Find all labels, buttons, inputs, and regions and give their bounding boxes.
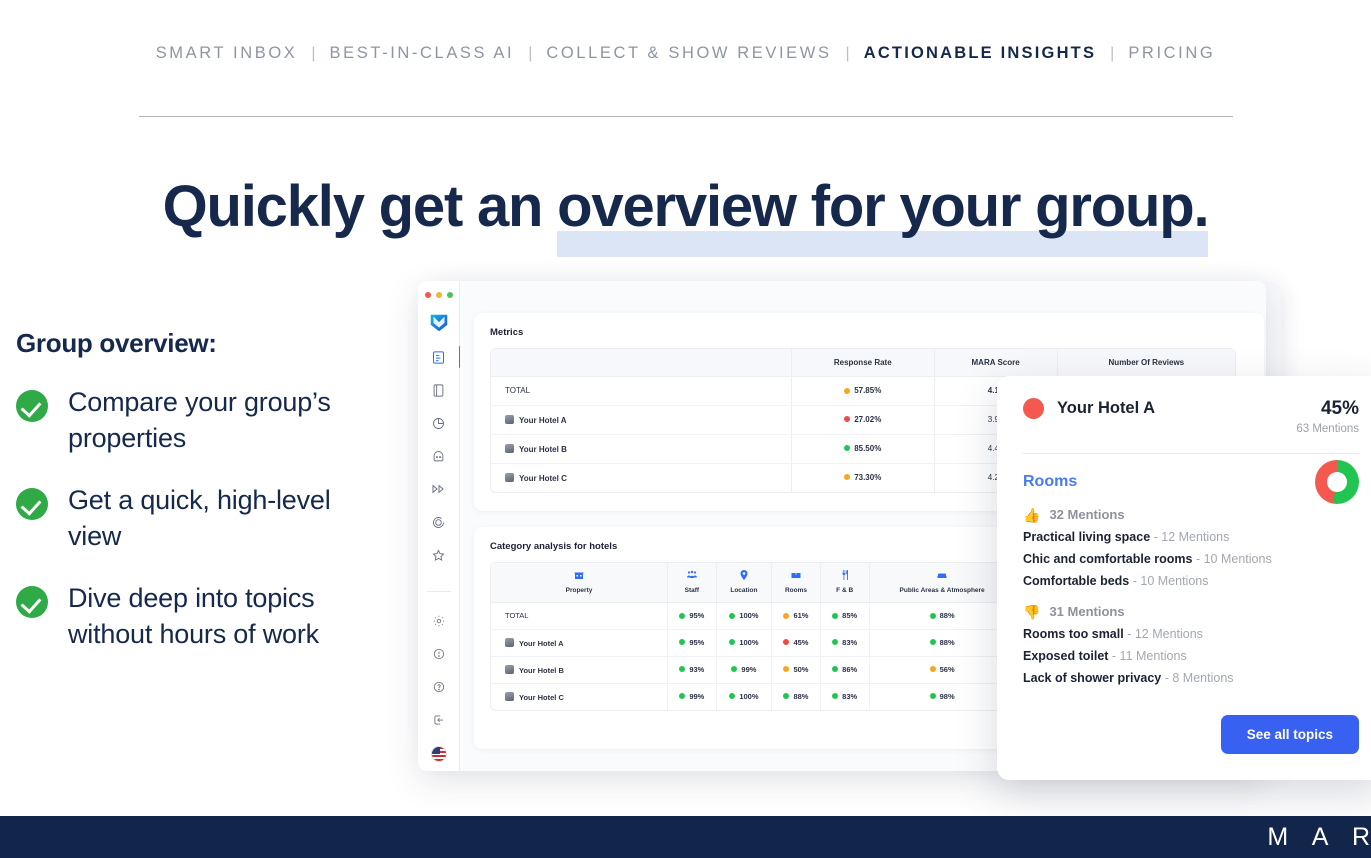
headline-section: Quickly get an overview for your group. bbox=[0, 175, 1371, 239]
building-icon bbox=[493, 569, 665, 583]
nav-item-smart-inbox[interactable]: SMART INBOX bbox=[154, 44, 300, 63]
category-score-cell: 100% bbox=[716, 684, 771, 710]
headline-text: Quickly get an overview for your group. bbox=[163, 174, 1209, 239]
page-root: SMART INBOX|BEST-IN-CLASS AI|COLLECT & S… bbox=[0, 0, 1371, 858]
category-col-label: Rooms bbox=[774, 587, 818, 595]
response-rate-cell: 73.30% bbox=[791, 464, 934, 492]
page-title: Quickly get an overview for your group. bbox=[163, 175, 1209, 239]
benefit-item: Get a quick, high-level view bbox=[16, 483, 376, 555]
topic-line-text: Comfortable beds bbox=[1023, 574, 1129, 588]
category-score-cell: 88% bbox=[771, 684, 820, 710]
people-icon bbox=[670, 569, 714, 583]
hotel-status-dot-icon bbox=[1023, 398, 1044, 419]
topic-line-mentions: - 10 Mentions bbox=[1192, 552, 1271, 566]
minimize-dot-icon[interactable] bbox=[436, 292, 442, 298]
negative-count-label: 31 Mentions bbox=[1049, 604, 1124, 619]
automation-icon[interactable] bbox=[429, 479, 449, 499]
check-circle-icon bbox=[16, 586, 48, 618]
category-score-cell: 45% bbox=[771, 630, 820, 657]
map-pin-icon bbox=[719, 569, 769, 583]
us-flag-icon[interactable] bbox=[431, 746, 447, 762]
nav-separator: | bbox=[834, 45, 862, 63]
category-col-header-public-areas-atmosphere: Public Areas & Atmosphere bbox=[869, 563, 1015, 603]
topic-line-text: Exposed toilet bbox=[1023, 649, 1108, 663]
product-screenshot: Metrics Response RateMARA ScoreNumber Of… bbox=[393, 272, 1371, 812]
overlay-total-mentions: 63 Mentions bbox=[1296, 423, 1359, 435]
topic-detail-card: Your Hotel A 45% 63 Mentions Rooms 👍 32 … bbox=[997, 376, 1371, 780]
benefit-item: Compare your group’s properties bbox=[16, 385, 376, 457]
category-score-cell: 93% bbox=[667, 657, 716, 684]
nav-item-pricing[interactable]: PRICING bbox=[1126, 44, 1217, 63]
overlay-percent: 45% bbox=[1296, 398, 1359, 420]
metrics-table-header: Response RateMARA ScoreNumber Of Reviews bbox=[491, 349, 1235, 377]
category-col-header-f-b: F & B bbox=[820, 563, 869, 603]
nav-separator: | bbox=[516, 45, 544, 63]
topic-line: Comfortable beds - 10 Mentions bbox=[1023, 574, 1359, 588]
check-circle-icon bbox=[16, 390, 48, 422]
negative-topic-list: Rooms too small - 12 MentionsExposed toi… bbox=[1023, 627, 1359, 685]
benefit-list: Compare your group’s propertiesGet a qui… bbox=[16, 385, 376, 652]
thumbs-down-icon: 👎 bbox=[1023, 605, 1040, 619]
positive-topic-list: Practical living space - 12 MentionsChic… bbox=[1023, 530, 1359, 588]
cutlery-icon bbox=[823, 569, 867, 583]
nav-separator: | bbox=[1098, 45, 1126, 63]
maximize-dot-icon[interactable] bbox=[447, 292, 453, 298]
sofa-icon bbox=[872, 569, 1013, 583]
reviews-list-icon[interactable] bbox=[429, 347, 449, 367]
category-col-label: Public Areas & Atmosphere bbox=[872, 587, 1013, 595]
category-score-cell: 100% bbox=[716, 630, 771, 657]
sidebar-divider bbox=[427, 591, 451, 592]
topic-line: Exposed toilet - 11 Mentions bbox=[1023, 649, 1359, 663]
metrics-col-header: Number Of Reviews bbox=[1057, 349, 1235, 377]
overlay-topic-label[interactable]: Rooms bbox=[1023, 473, 1359, 491]
benefit-item-label: Get a quick, high-level view bbox=[68, 483, 376, 555]
category-score-cell: 95% bbox=[667, 603, 716, 630]
sidebar-nav-items bbox=[429, 334, 449, 565]
topic-line: Practical living space - 12 Mentions bbox=[1023, 530, 1359, 544]
category-score-cell: 85% bbox=[820, 603, 869, 630]
sidebar-bottom-items bbox=[429, 598, 449, 730]
alert-clock-icon[interactable] bbox=[429, 644, 449, 664]
help-question-icon[interactable] bbox=[429, 677, 449, 697]
positive-section: 👍 32 Mentions Practical living space - 1… bbox=[1023, 507, 1359, 588]
category-score-cell: 86% bbox=[820, 657, 869, 684]
response-rate-cell: 57.85% bbox=[791, 377, 934, 406]
category-col-header-staff: Staff bbox=[667, 563, 716, 603]
close-dot-icon[interactable] bbox=[425, 292, 431, 298]
overlay-divider bbox=[1023, 453, 1359, 454]
see-all-topics-button[interactable]: See all topics bbox=[1221, 715, 1359, 754]
app-sidebar bbox=[418, 281, 460, 771]
footer-logo: M A R bbox=[1267, 823, 1371, 852]
nav-item-collect-show-reviews[interactable]: COLLECT & SHOW REVIEWS bbox=[544, 44, 833, 63]
hotel-thumb-icon bbox=[505, 665, 514, 674]
topic-line-text: Practical living space bbox=[1023, 530, 1150, 544]
overlay-hotel: Your Hotel A bbox=[1023, 398, 1155, 419]
topic-line-mentions: - 11 Mentions bbox=[1108, 649, 1186, 663]
hotel-thumb-icon bbox=[505, 473, 514, 482]
metrics-property-cell: Your Hotel A bbox=[491, 406, 791, 435]
category-property-cell: Your Hotel A bbox=[491, 630, 667, 657]
overlay-header: Your Hotel A 45% 63 Mentions bbox=[1023, 398, 1359, 435]
topic-line-text: Chic and comfortable rooms bbox=[1023, 552, 1192, 566]
category-score-cell: 50% bbox=[771, 657, 820, 684]
smiley-insights-icon[interactable] bbox=[429, 446, 449, 466]
metrics-col-header: MARA Score bbox=[934, 349, 1057, 377]
category-score-cell: 56% bbox=[869, 657, 1015, 684]
category-property-cell: TOTAL bbox=[491, 603, 667, 630]
metrics-col-header: Response Rate bbox=[791, 349, 934, 377]
category-col-header-property: Property bbox=[491, 563, 667, 603]
metrics-col-header bbox=[491, 349, 791, 377]
sentiment-donut-chart bbox=[1315, 460, 1359, 504]
window-traffic-lights[interactable] bbox=[425, 292, 453, 298]
category-score-cell: 98% bbox=[869, 684, 1015, 710]
topic-line-text: Lack of shower privacy bbox=[1023, 671, 1161, 685]
category-score-cell: 95% bbox=[667, 630, 716, 657]
hotel-thumb-icon bbox=[505, 415, 514, 424]
mara-logo-icon[interactable] bbox=[428, 312, 450, 334]
category-property-cell: Your Hotel C bbox=[491, 684, 667, 710]
chat-bubble-icon[interactable] bbox=[429, 512, 449, 532]
hotel-thumb-icon bbox=[505, 444, 514, 453]
metrics-property-cell: TOTAL bbox=[491, 377, 791, 406]
category-score-cell: 88% bbox=[869, 603, 1015, 630]
benefit-item: Dive deep into topics without hours of w… bbox=[16, 581, 376, 653]
positive-count-row: 👍 32 Mentions bbox=[1023, 507, 1359, 522]
group-overview-section: Group overview: Compare your group’s pro… bbox=[16, 328, 376, 678]
bed-icon bbox=[774, 569, 818, 583]
nav-item-actionable-insights[interactable]: ACTIONABLE INSIGHTS bbox=[862, 44, 1098, 63]
nav-divider-rule bbox=[139, 116, 1233, 117]
overlay-hotel-name: Your Hotel A bbox=[1057, 399, 1155, 418]
category-col-label: F & B bbox=[823, 587, 867, 595]
category-score-cell: 100% bbox=[716, 603, 771, 630]
topic-line-mentions: - 12 Mentions bbox=[1150, 530, 1229, 544]
benefit-item-label: Dive deep into topics without hours of w… bbox=[68, 581, 376, 653]
hotel-thumb-icon bbox=[505, 638, 514, 647]
analytics-pie-icon[interactable] bbox=[429, 413, 449, 433]
metrics-panel-title: Metrics bbox=[474, 313, 1264, 348]
negative-count-row: 👎 31 Mentions bbox=[1023, 604, 1359, 619]
logout-icon[interactable] bbox=[429, 710, 449, 730]
category-score-cell: 83% bbox=[820, 684, 869, 710]
metrics-property-cell: Your Hotel C bbox=[491, 464, 791, 492]
positive-count-label: 32 Mentions bbox=[1049, 507, 1124, 522]
check-circle-icon bbox=[16, 488, 48, 520]
nav-item-best-in-class-ai[interactable]: BEST-IN-CLASS AI bbox=[328, 44, 517, 63]
topic-line-mentions: - 12 Mentions bbox=[1124, 627, 1203, 641]
favorites-star-icon[interactable] bbox=[429, 545, 449, 565]
response-rate-cell: 27.02% bbox=[791, 406, 934, 435]
hotel-thumb-icon bbox=[505, 692, 514, 701]
overlay-score: 45% 63 Mentions bbox=[1296, 398, 1359, 435]
topic-line-text: Rooms too small bbox=[1023, 627, 1124, 641]
category-score-cell: 88% bbox=[869, 630, 1015, 657]
category-col-header-location: Location bbox=[716, 563, 771, 603]
negative-section: 👎 31 Mentions Rooms too small - 12 Menti… bbox=[1023, 604, 1359, 685]
topic-line: Lack of shower privacy - 8 Mentions bbox=[1023, 671, 1359, 685]
inbox-icon[interactable] bbox=[429, 380, 449, 400]
topic-line: Rooms too small - 12 Mentions bbox=[1023, 627, 1359, 641]
category-col-header-rooms: Rooms bbox=[771, 563, 820, 603]
nav-separator: | bbox=[299, 45, 327, 63]
category-score-cell: 61% bbox=[771, 603, 820, 630]
settings-gear-icon[interactable] bbox=[429, 611, 449, 631]
site-footer: M A R bbox=[0, 816, 1371, 858]
category-col-label: Location bbox=[719, 587, 769, 595]
category-col-label: Property bbox=[493, 587, 665, 595]
response-rate-cell: 85.50% bbox=[791, 435, 934, 464]
top-navigation: SMART INBOX|BEST-IN-CLASS AI|COLLECT & S… bbox=[0, 44, 1371, 63]
category-col-label: Staff bbox=[670, 587, 714, 595]
metrics-property-cell: Your Hotel B bbox=[491, 435, 791, 464]
benefit-item-label: Compare your group’s properties bbox=[68, 385, 376, 457]
topic-line-mentions: - 10 Mentions bbox=[1129, 574, 1208, 588]
thumbs-up-icon: 👍 bbox=[1023, 508, 1040, 522]
category-score-cell: 99% bbox=[667, 684, 716, 710]
category-score-cell: 83% bbox=[820, 630, 869, 657]
category-property-cell: Your Hotel B bbox=[491, 657, 667, 684]
topic-line-mentions: - 8 Mentions bbox=[1161, 671, 1233, 685]
category-score-cell: 99% bbox=[716, 657, 771, 684]
topic-line: Chic and comfortable rooms - 10 Mentions bbox=[1023, 552, 1359, 566]
group-overview-title: Group overview: bbox=[16, 328, 376, 359]
